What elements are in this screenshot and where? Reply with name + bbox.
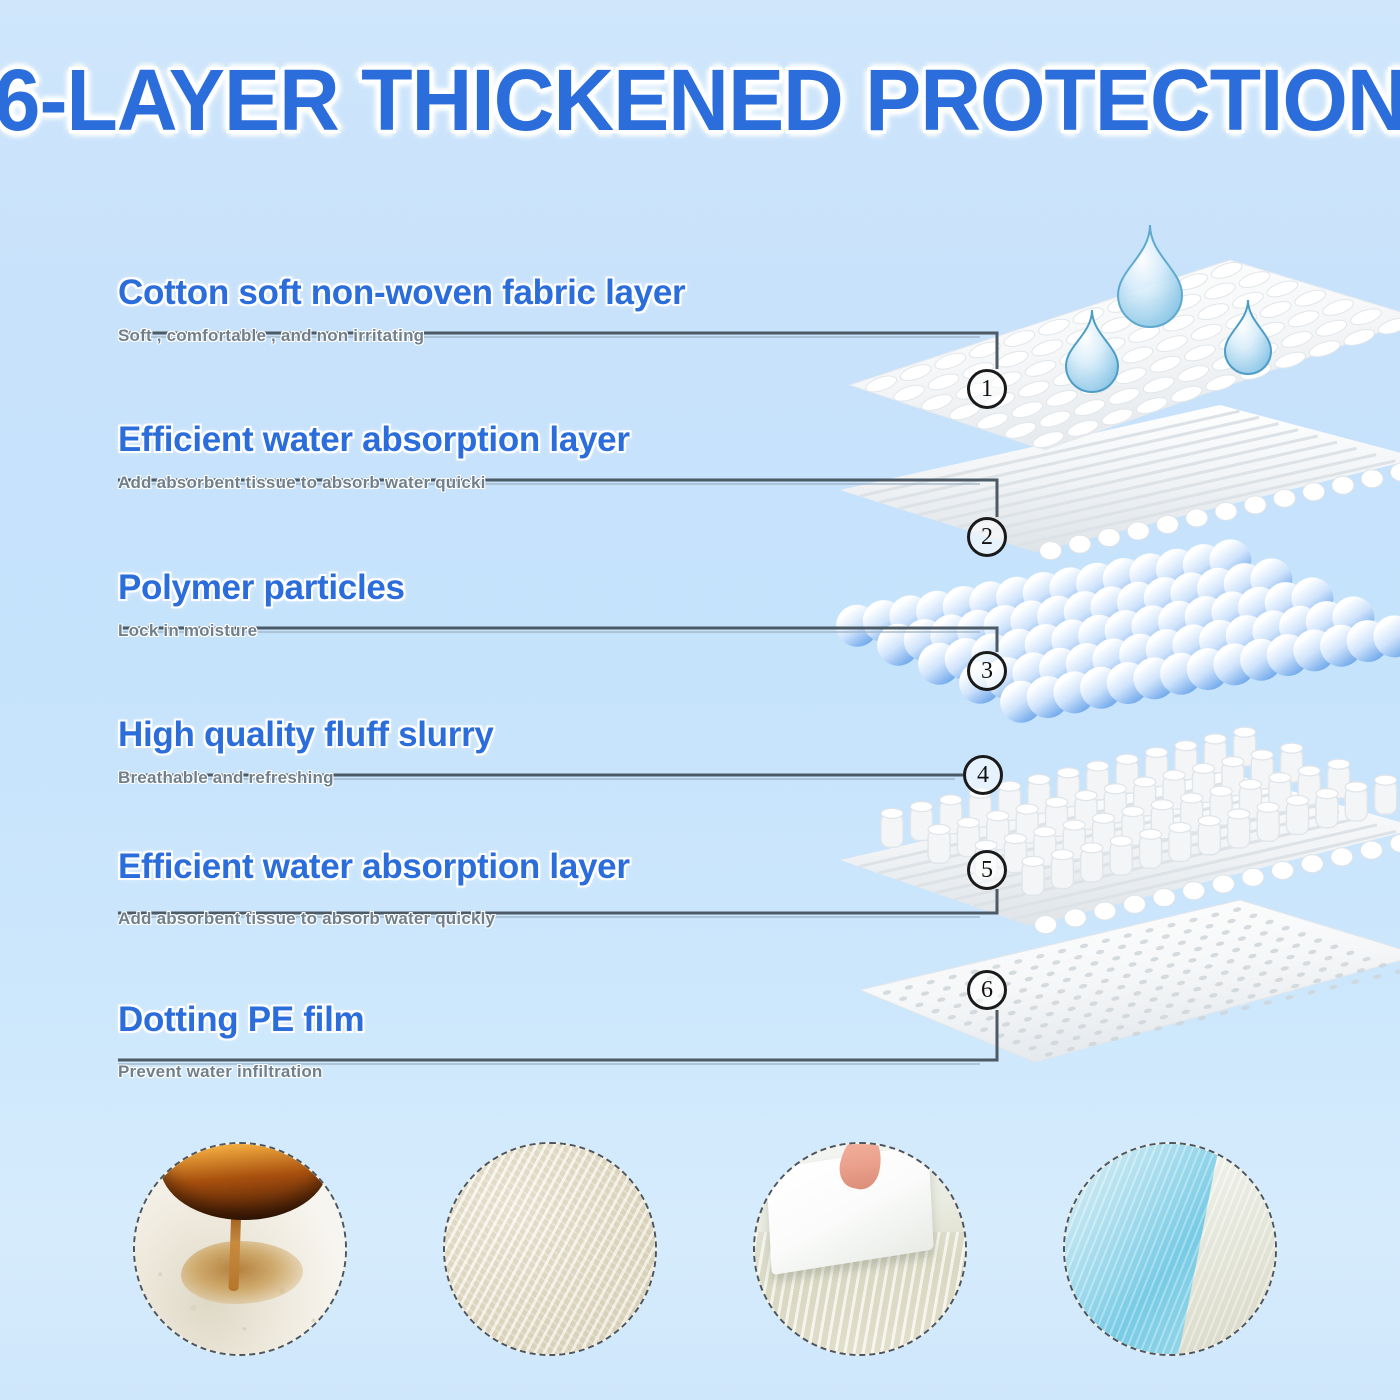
blue-white-fabric-photo (1063, 1142, 1277, 1356)
layer-1-title: Cotton soft non-woven fabric layer (118, 273, 685, 313)
layer-3-polymer-beads (836, 539, 1400, 722)
layer-block-6: Dotting PE film Prevent water infiltrati… (118, 1000, 364, 1082)
layer-block-5: Efficient water absorption layer Add abs… (118, 847, 630, 929)
title-bar: 6-LAYER THICKENED PROTECTION (0, 52, 1400, 148)
finger-press-pad-photo (753, 1142, 967, 1356)
layer-5-subtitle: Add absorbent tissue to absorb water qui… (118, 909, 630, 929)
callout-number-3: 3 (967, 651, 1007, 691)
callout-number-4: 4 (963, 755, 1003, 795)
callout-number-1: 1 (967, 369, 1007, 409)
layer-2-subtitle: Add absorbent tissue to absorb water qui… (118, 473, 630, 493)
layer-1-subtitle: Soft , comfortable , and non irritating (118, 326, 685, 346)
layer-6-subtitle: Prevent water infiltration (118, 1062, 364, 1082)
layer-block-4: High quality fluff slurry Breathable and… (118, 715, 494, 788)
layer-stack-illustration (820, 200, 1400, 1150)
callout-number-6: 6 (967, 970, 1007, 1010)
layer-2-title: Efficient water absorption layer (118, 420, 630, 460)
layer-5-absorbent-tissue (840, 772, 1400, 934)
fluff-texture-photo (443, 1142, 657, 1356)
layer-2-absorbent-tissue (840, 405, 1400, 560)
layer-block-1: Cotton soft non-woven fabric layer Soft … (118, 273, 685, 346)
layer-4-title: High quality fluff slurry (118, 715, 494, 755)
layer-4-fluff-slurry (881, 727, 1397, 895)
layer-1-nonwoven-sheet (850, 225, 1400, 451)
layer-block-3: Polymer particles Lock in moisture (118, 568, 405, 641)
callout-number-2: 2 (967, 517, 1007, 557)
page-title: 6-LAYER THICKENED PROTECTION (0, 49, 1400, 151)
water-droplets (1066, 225, 1271, 392)
layer-5-title: Efficient water absorption layer (118, 847, 630, 887)
callout-number-5: 5 (967, 850, 1007, 890)
layer-3-subtitle: Lock in moisture (118, 621, 405, 641)
photo-strip (0, 1142, 1400, 1392)
layer-block-2: Efficient water absorption layer Add abs… (118, 420, 630, 493)
liquid-absorption-photo (133, 1142, 347, 1356)
layer-6-pe-film (860, 900, 1400, 1062)
layer-3-title: Polymer particles (118, 568, 405, 608)
layer-6-title: Dotting PE film (118, 1000, 364, 1040)
layer-4-subtitle: Breathable and refreshing (118, 768, 494, 788)
